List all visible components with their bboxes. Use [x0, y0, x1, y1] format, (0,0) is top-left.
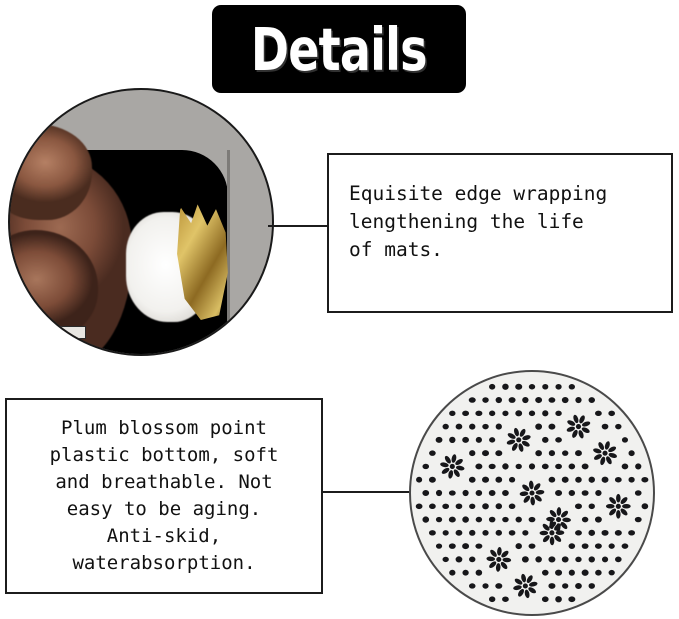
callout-edge-wrapping-text: Equisite edge wrapping lengthening the l… [349, 180, 607, 264]
connector-line-top [268, 225, 329, 227]
callout-plastic-bottom: Plum blossom point plastic bottom, soft … [5, 398, 323, 594]
callout-edge-wrapping: Equisite edge wrapping lengthening the l… [327, 153, 673, 313]
anti-skid-dot-pattern [411, 372, 653, 614]
page-title: Details [251, 20, 427, 79]
callout-plastic-bottom-text: Plum blossom point plastic bottom, soft … [50, 415, 279, 577]
mat-bottom-photo [409, 370, 655, 616]
photo-watermark [54, 326, 86, 339]
details-header-banner: Details [212, 5, 466, 93]
connector-line-bottom [321, 491, 411, 493]
details-infographic: Details Equisite edge wrapping lengtheni… [0, 0, 679, 619]
mat-edge-photo [8, 88, 274, 356]
